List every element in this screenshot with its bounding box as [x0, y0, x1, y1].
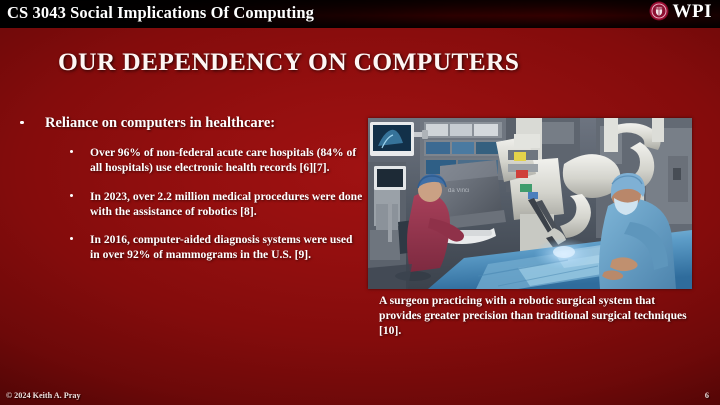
bullet-level1: Reliance on computers in healthcare:	[14, 115, 364, 132]
slide-page-number: 6	[705, 391, 709, 400]
bullet-level2: In 2023, over 2.2 million medical proced…	[59, 189, 364, 219]
page-title: OUR DEPENDENCY ON COMPUTERS	[58, 47, 519, 77]
bullet-dot-icon	[70, 150, 73, 153]
bullet-level2: In 2016, computer-aided diagnosis system…	[59, 232, 364, 262]
content-body: Reliance on computers in healthcare: Ove…	[14, 115, 364, 262]
bullet-level2-label: In 2016, computer-aided diagnosis system…	[90, 233, 352, 261]
robotic-surgery-photo: da Vinci	[368, 118, 692, 289]
bullet-dot-icon	[20, 121, 24, 125]
wpi-seal-icon	[649, 1, 669, 21]
bullet-level2-label: Over 96% of non-federal acute care hospi…	[90, 146, 356, 174]
wpi-brand: WPI	[649, 1, 713, 21]
course-title: CS 3043 Social Implications Of Computing	[7, 3, 314, 23]
photo-caption: A surgeon practicing with a robotic surg…	[379, 293, 697, 338]
bullet-dot-icon	[70, 237, 73, 240]
footer-copyright: © 2024 Keith A. Pray	[6, 391, 81, 400]
wpi-wordmark: WPI	[673, 2, 713, 21]
bullet-level2: Over 96% of non-federal acute care hospi…	[59, 145, 364, 175]
bullet-level2-label: In 2023, over 2.2 million medical proced…	[90, 190, 362, 218]
bullet-level1-label: Reliance on computers in healthcare:	[45, 115, 275, 131]
bullet-dot-icon	[70, 194, 73, 197]
slide-canvas: CS 3043 Social Implications Of Computing…	[0, 0, 720, 405]
sub-bullet-list: Over 96% of non-federal acute care hospi…	[14, 145, 364, 261]
slide-header-bar: CS 3043 Social Implications Of Computing…	[0, 0, 720, 28]
